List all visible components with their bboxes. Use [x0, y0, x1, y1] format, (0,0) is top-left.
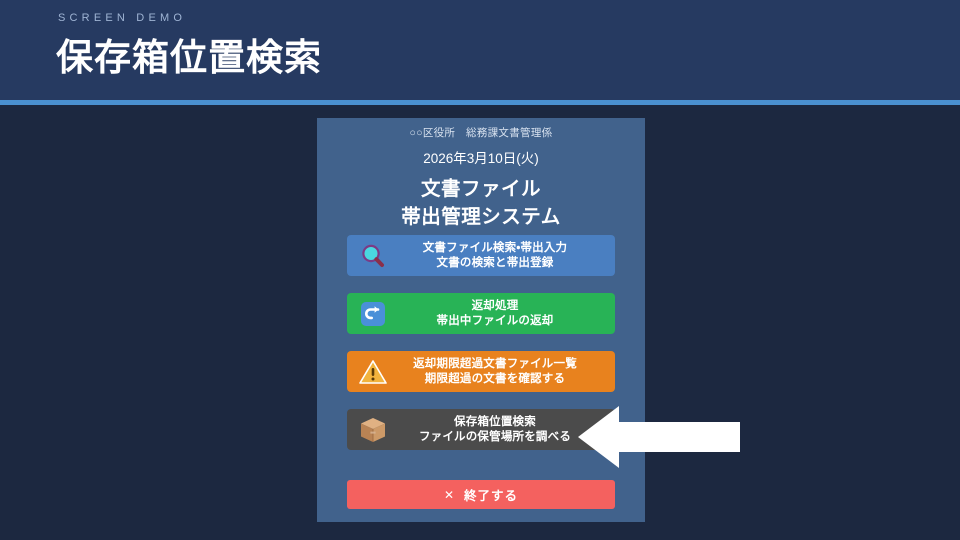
menu-item-overdue[interactable]: 返却期限超過文書ファイル一覧 期限超過の文書を確認する [347, 351, 615, 392]
menu-item-locate-labels: 保存箱位置検索 ファイルの保管場所を調べる [391, 415, 607, 444]
menu-item-locate-subtitle: ファイルの保管場所を調べる [391, 430, 599, 445]
office-name: ○○区役所 総務課文書管理係 [317, 118, 645, 140]
menu-item-overdue-subtitle: 期限超過の文書を確認する [391, 372, 599, 387]
menu-item-locate-title: 保存箱位置検索 [391, 415, 599, 430]
menu-item-search-subtitle: 文書の検索と帯出登録 [391, 256, 599, 271]
return-arrow-icon [355, 296, 391, 332]
menu-item-return-title: 返却処理 [391, 299, 599, 314]
menu-item-overdue-title: 返却期限超過文書ファイル一覧 [391, 357, 599, 372]
menu-item-return-labels: 返却処理 帯出中ファイルの返却 [391, 299, 607, 328]
menu-item-locate-box[interactable]: 保存箱位置検索 ファイルの保管場所を調べる [347, 409, 615, 450]
menu-item-search[interactable]: 文書ファイル検索・帯出入力 文書の検索と帯出登録 [347, 235, 615, 276]
menu-item-return[interactable]: 返却処理 帯出中ファイルの返却 [347, 293, 615, 334]
menu-item-search-labels: 文書ファイル検索・帯出入力 文書の検索と帯出登録 [391, 241, 607, 270]
package-box-icon [355, 412, 391, 448]
slide-canvas: SCREEN DEMO 保存箱位置検索 ○○区役所 総務課文書管理係 2026年… [0, 0, 960, 540]
exit-button-label: 終了する [464, 485, 518, 504]
app-title-line1: 文書ファイル [317, 167, 645, 202]
magnifier-icon [355, 238, 391, 274]
slide-header: SCREEN DEMO 保存箱位置検索 [0, 0, 960, 100]
left-pointing-arrow-icon [578, 406, 740, 468]
main-menu: 文書ファイル検索・帯出入力 文書の検索と帯出登録 返却処理 帯出中ファイルの返却 [347, 235, 615, 467]
page-title: 保存箱位置検索 [56, 36, 322, 80]
app-title-line2: 帯出管理システム [317, 202, 645, 230]
warning-triangle-icon [355, 354, 391, 390]
menu-item-overdue-labels: 返却期限超過文書ファイル一覧 期限超過の文書を確認する [391, 357, 607, 386]
menu-item-return-subtitle: 帯出中ファイルの返却 [391, 314, 599, 329]
menu-item-search-title: 文書ファイル検索・帯出入力 [391, 241, 599, 256]
exit-button[interactable]: ✕ 終了する [347, 480, 615, 509]
slide-eyebrow: SCREEN DEMO [58, 12, 186, 24]
current-date: 2026年3月10日(火) [317, 140, 645, 167]
close-icon: ✕ [444, 488, 454, 502]
header-accent-rule [0, 100, 960, 105]
